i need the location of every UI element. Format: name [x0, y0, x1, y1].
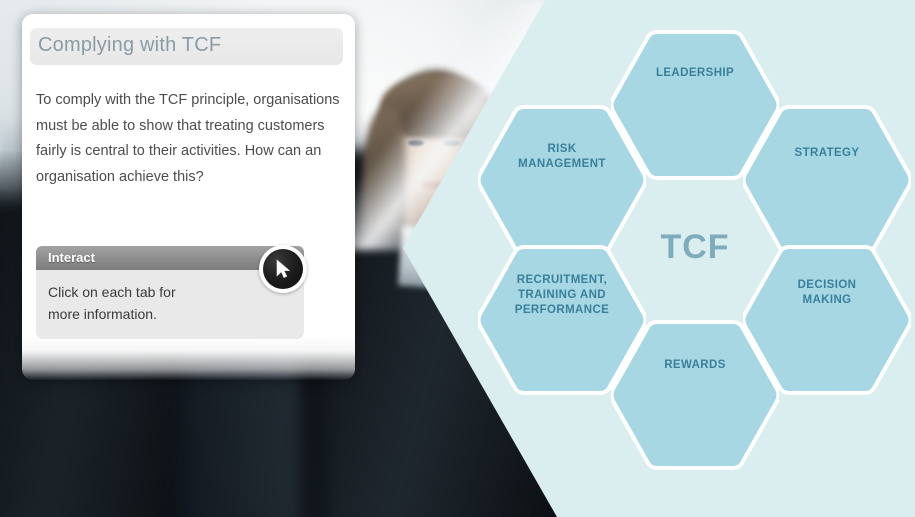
mouse-pointer-badge[interactable]	[259, 245, 307, 293]
hexagon-shape-icon	[743, 101, 911, 259]
hexagon-label: STRATEGY	[762, 146, 892, 161]
info-card: Complying with TCF To comply with the TC…	[22, 14, 355, 380]
mouse-pointer-icon	[263, 249, 303, 289]
card-body-text: To comply with the TCF principle, organi…	[36, 88, 341, 190]
hexagon-shape-icon	[611, 316, 779, 474]
hexagon-risk-management[interactable]: RISK MANAGEMENT	[478, 101, 646, 259]
hexagon-label: RECRUITMENT, TRAINING AND PERFORMANCE	[497, 273, 627, 318]
diagram-center-label: TCF	[640, 228, 750, 267]
slide-canvas: LEADERSHIP RISK MANAGEMENT STRATEGY RECR…	[0, 0, 915, 517]
hexagon-label: RISK MANAGEMENT	[497, 142, 627, 172]
hexagon-strategy[interactable]: STRATEGY	[743, 101, 911, 259]
interact-header-label: Interact	[48, 250, 95, 265]
cursor-arrow-icon	[273, 258, 293, 280]
hexagon-label: REWARDS	[630, 358, 760, 373]
hexagon-label: LEADERSHIP	[630, 66, 760, 81]
page-title: Complying with TCF	[38, 34, 221, 57]
hexagon-label: DECISION MAKING	[762, 278, 892, 308]
hexagon-rewards[interactable]: REWARDS	[611, 316, 779, 474]
hexagon-shape-icon	[478, 101, 646, 259]
